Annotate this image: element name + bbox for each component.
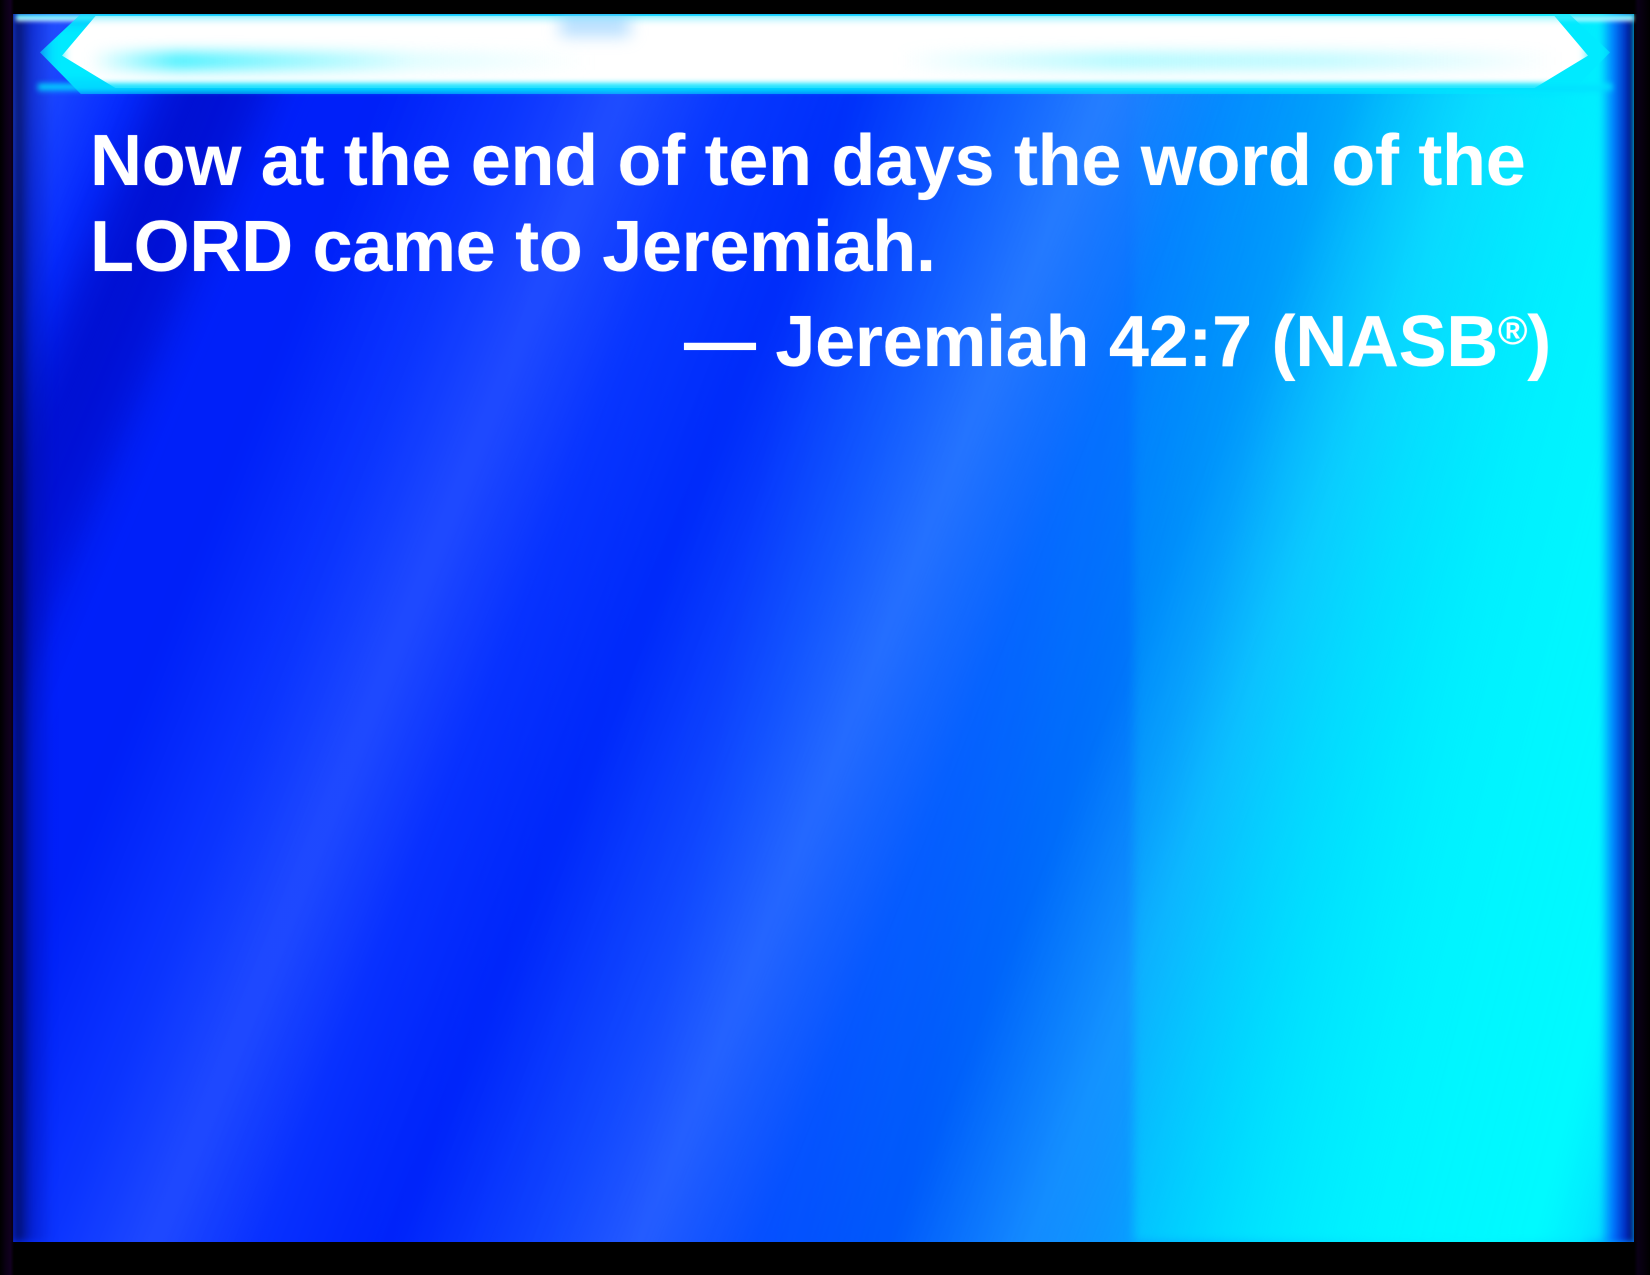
verse-reference-suffix: )	[1527, 302, 1551, 382]
verse-line-2: LORD came to Jeremiah.	[90, 208, 936, 286]
verse-reference-prefix: — Jeremiah 42:7 (NASB	[684, 302, 1498, 382]
verse-text-block: Now at the end of ten days the word of t…	[0, 0, 1650, 1275]
scripture-slide: Now at the end of ten days the word of t…	[0, 0, 1650, 1275]
verse-reference: — Jeremiah 42:7 (NASB®)	[684, 292, 1551, 381]
registered-trademark-icon: ®	[1498, 309, 1527, 353]
verse-line-1: Now at the end of ten days the word of t…	[90, 122, 1525, 200]
